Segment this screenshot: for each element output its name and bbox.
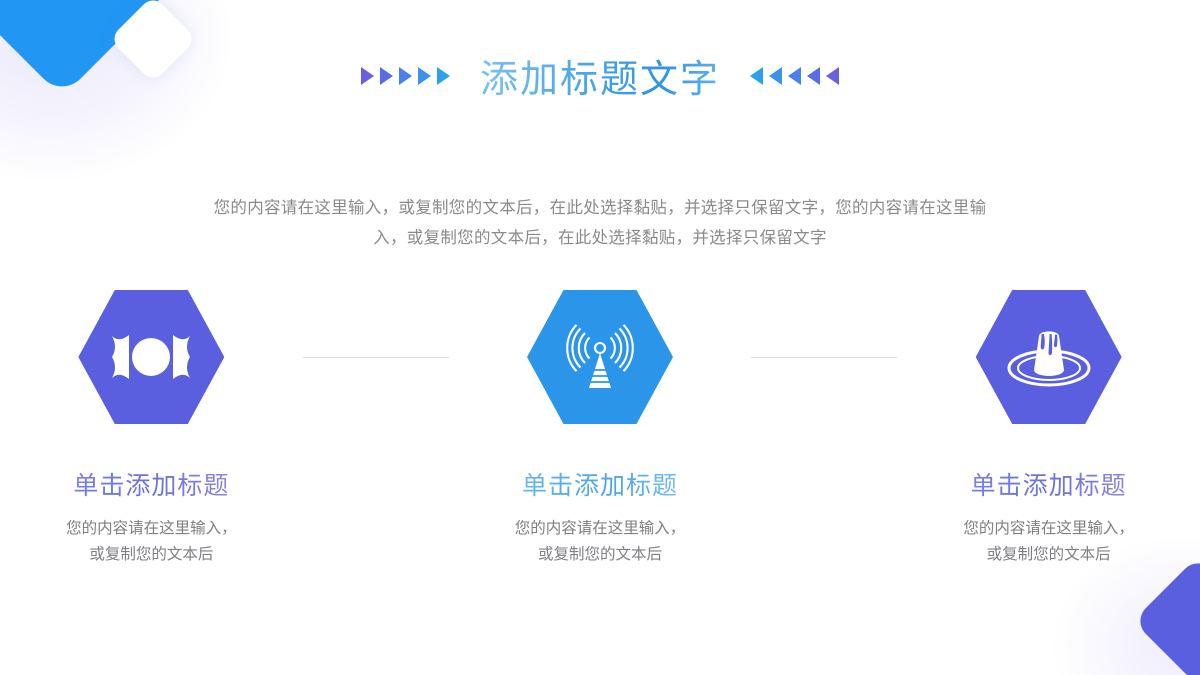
signal-broadcast-icon — [561, 318, 639, 396]
feature-column-2[interactable]: 单击添加标题 您的内容请在这里输入， 或复制您的文本后 — [449, 290, 752, 568]
connector-2 — [751, 290, 897, 424]
triangle-right-icon — [361, 67, 374, 85]
column-desc-3: 您的内容请在这里输入， 或复制您的文本后 — [963, 516, 1134, 568]
connector-line — [303, 357, 449, 358]
intro-paragraph: 您的内容请在这里输入，或复制您的文本后，在此处选择黏贴，并选择只保留文字，您的内… — [205, 193, 995, 253]
connector-line — [751, 357, 897, 358]
triangle-left-icon — [826, 67, 839, 85]
left-arrow-group — [361, 67, 450, 85]
slide-canvas: 添加标题文字 您的内容请在这里输入，或复制您的文本后，在此处选择黏贴，并选择只保… — [0, 0, 1200, 675]
right-arrow-group — [750, 67, 839, 85]
column-title-1: 单击添加标题 — [73, 466, 229, 502]
column-title-3: 单击添加标题 — [971, 466, 1127, 502]
column-title-2: 单击添加标题 — [522, 466, 678, 502]
column-desc-1: 您的内容请在这里输入， 或复制您的文本后 — [66, 516, 237, 568]
hexagon-badge-2[interactable] — [527, 290, 673, 424]
triangle-right-icon — [399, 67, 412, 85]
triangle-left-icon — [788, 67, 801, 85]
hexagon-badge-1[interactable] — [78, 290, 224, 424]
feature-columns: 单击添加标题 您的内容请在这里输入， 或复制您的文本后 — [0, 290, 1200, 568]
triangle-right-icon — [418, 67, 431, 85]
triangle-left-icon — [807, 67, 820, 85]
feature-column-3[interactable]: 单击添加标题 您的内容请在这里输入， 或复制您的文本后 — [897, 290, 1200, 568]
triangle-left-icon — [769, 67, 782, 85]
triangle-right-icon — [437, 67, 450, 85]
triangle-right-icon — [380, 67, 393, 85]
column-desc-2: 您的内容请在这里输入， 或复制您的文本后 — [515, 516, 686, 568]
bottom-right-diamond-shape — [1133, 556, 1200, 675]
candy-icon — [109, 327, 193, 387]
connector-1 — [303, 290, 449, 424]
hexagon-badge-3[interactable] — [976, 290, 1122, 424]
feature-column-1[interactable]: 单击添加标题 您的内容请在这里输入， 或复制您的文本后 — [0, 290, 303, 568]
title-row: 添加标题文字 — [0, 48, 1200, 103]
page-title: 添加标题文字 — [480, 48, 720, 103]
pudding-dessert-icon — [1003, 320, 1095, 394]
triangle-left-icon — [750, 67, 763, 85]
